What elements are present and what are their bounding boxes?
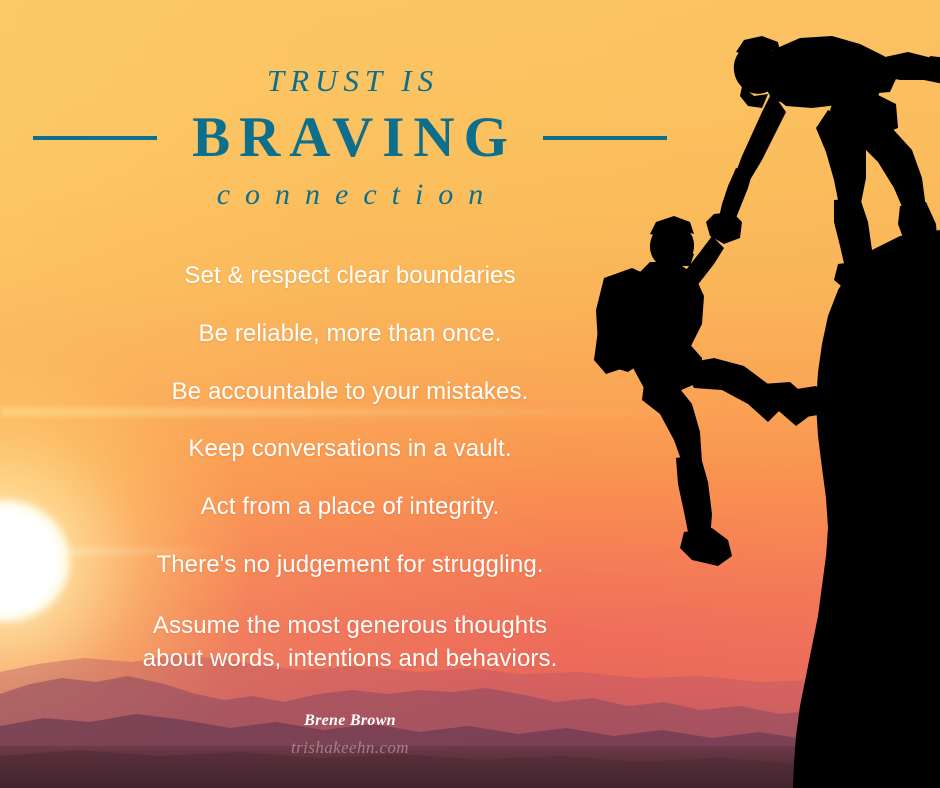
website-credit: trishakeehn.com (0, 738, 700, 758)
cliff-rock (793, 230, 940, 788)
quote-line: Be accountable to your mistakes. (0, 378, 700, 407)
quote-line: Set & respect clear boundaries (0, 262, 700, 291)
quote-line: about words, intentions and behaviors. (0, 642, 700, 675)
title-row: BRAVING (0, 108, 700, 168)
author-name: Brene Brown (0, 712, 700, 730)
page-title: BRAVING (183, 108, 517, 168)
subtitle-text: connection (0, 178, 700, 212)
rule-right (543, 136, 667, 140)
quote-line: There's no judgement for struggling. (0, 551, 700, 580)
attribution-block: Brene Brown trishakeehn.com (0, 712, 700, 758)
quote-poster: TRUST IS BRAVING connection Set & respec… (0, 0, 940, 788)
rule-left (33, 136, 157, 140)
quote-line: Keep conversations in a vault. (0, 435, 700, 464)
quote-lines: Set & respect clear boundaries Be reliab… (0, 262, 700, 675)
quote-line: Act from a place of integrity. (0, 493, 700, 522)
eyebrow-text: TRUST IS (0, 63, 700, 99)
quote-line: Be reliable, more than once. (0, 320, 700, 349)
quote-line: Assume the most generous thoughts (0, 609, 700, 642)
